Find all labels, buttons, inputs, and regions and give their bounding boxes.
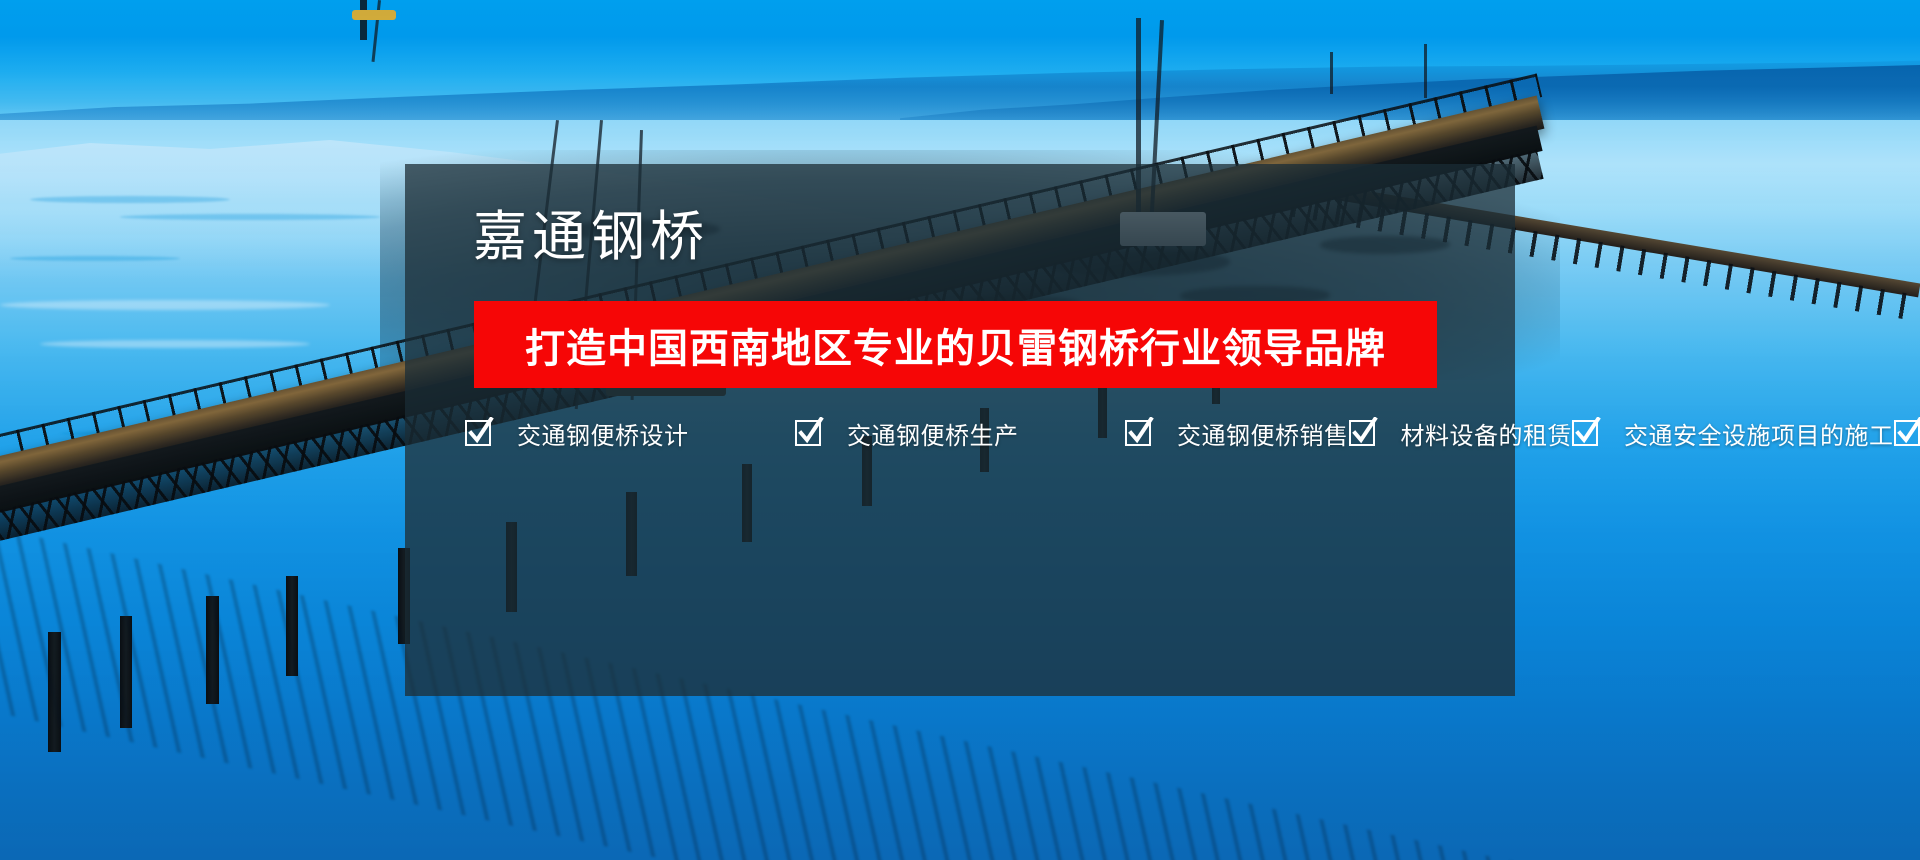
feature-item[interactable]: 交通钢便桥设计 xyxy=(465,409,795,457)
feature-item[interactable]: 交通安全设施项目的施工 xyxy=(1572,409,1894,457)
hero-banner: 嘉通钢桥 打造中国西南地区专业的贝雷钢桥行业领导品牌 交通钢便桥设计 交通钢便桥… xyxy=(0,0,1920,860)
checkbox-checked-icon xyxy=(795,420,821,446)
hero-overlay-panel: 嘉通钢桥 打造中国西南地区专业的贝雷钢桥行业领导品牌 交通钢便桥设计 交通钢便桥… xyxy=(405,164,1515,696)
checkbox-checked-icon xyxy=(465,420,491,446)
feature-item[interactable]: 交通钢便桥生产 xyxy=(795,409,1125,457)
checkbox-checked-icon xyxy=(1125,420,1151,446)
feature-label: 交通钢便桥设计 xyxy=(517,416,689,451)
feature-item[interactable]: 钢结构桥梁加工 xyxy=(1894,409,1920,457)
checkbox-checked-icon xyxy=(1572,420,1598,446)
checkbox-checked-icon xyxy=(1894,420,1920,446)
feature-label: 交通钢便桥销售 xyxy=(1177,416,1349,451)
feature-label: 交通钢便桥生产 xyxy=(847,416,1019,451)
slogan-banner: 打造中国西南地区专业的贝雷钢桥行业领导品牌 xyxy=(474,301,1437,388)
brand-title: 嘉通钢桥 xyxy=(473,208,709,267)
feature-item[interactable]: 材料设备的租赁 xyxy=(1349,409,1573,457)
slogan-text: 打造中国西南地区专业的贝雷钢桥行业领导品牌 xyxy=(525,316,1386,374)
feature-label: 材料设备的租赁 xyxy=(1401,416,1573,451)
feature-item[interactable]: 交通钢便桥销售 xyxy=(1125,409,1349,457)
checkbox-checked-icon xyxy=(1349,420,1375,446)
feature-list: 交通钢便桥设计 交通钢便桥生产 交通钢便桥销售 材料设备的租赁 xyxy=(465,409,1465,457)
feature-label: 交通安全设施项目的施工 xyxy=(1624,416,1894,451)
